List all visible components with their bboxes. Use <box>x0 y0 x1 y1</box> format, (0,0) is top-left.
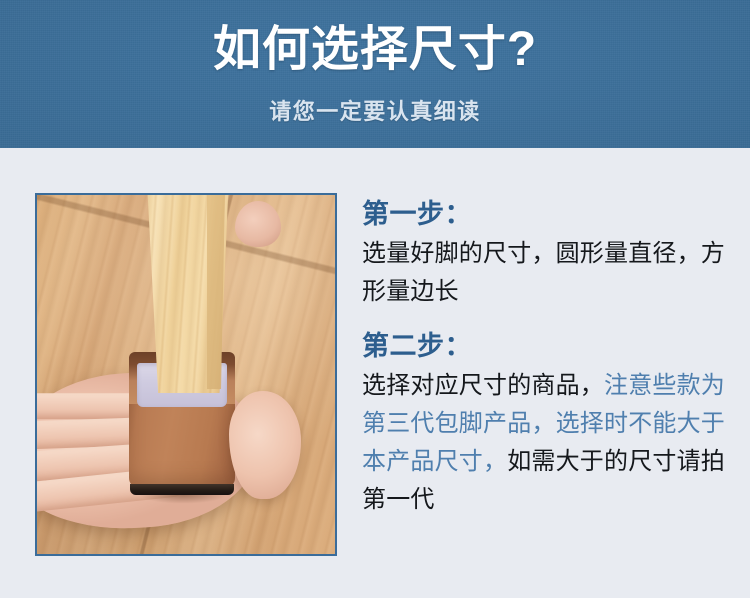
step-title: 第二步： <box>362 325 746 367</box>
step-item: 第二步： 选择对应尺寸的商品，注意些款为第三代包脚产品，选择时不能大于本产品尺寸… <box>362 325 746 519</box>
promo-page: 如何选择尺寸? 请您一定要认真细读 第一步： 选量好脚的尺寸，圆形量直径，方形量… <box>0 0 750 598</box>
header-banner: 如何选择尺寸? 请您一定要认真细读 <box>0 0 750 148</box>
felt-pad <box>130 484 234 495</box>
page-title: 如何选择尺寸? <box>0 20 750 80</box>
step-text-segment: 选量好脚的尺寸，圆形量直径，方形量边长 <box>362 240 725 305</box>
step-text-segment: 选择对应尺寸的商品， <box>362 372 604 399</box>
step-body: 选量好脚的尺寸，圆形量直径，方形量边长 <box>362 235 746 311</box>
step-body: 选择对应尺寸的商品，注意些款为第三代包脚产品，选择时不能大于本产品尺寸，如需大于… <box>362 367 746 519</box>
finger-icon <box>229 391 301 499</box>
step-title: 第一步： <box>362 193 746 235</box>
steps-list: 第一步： 选量好脚的尺寸，圆形量直径，方形量边长 第二步： 选择对应尺寸的商品，… <box>362 193 746 525</box>
step-item: 第一步： 选量好脚的尺寸，圆形量直径，方形量边长 <box>362 193 746 311</box>
product-photo <box>35 193 337 556</box>
thumb-icon <box>235 201 281 247</box>
page-subtitle: 请您一定要认真细读 <box>0 96 750 128</box>
